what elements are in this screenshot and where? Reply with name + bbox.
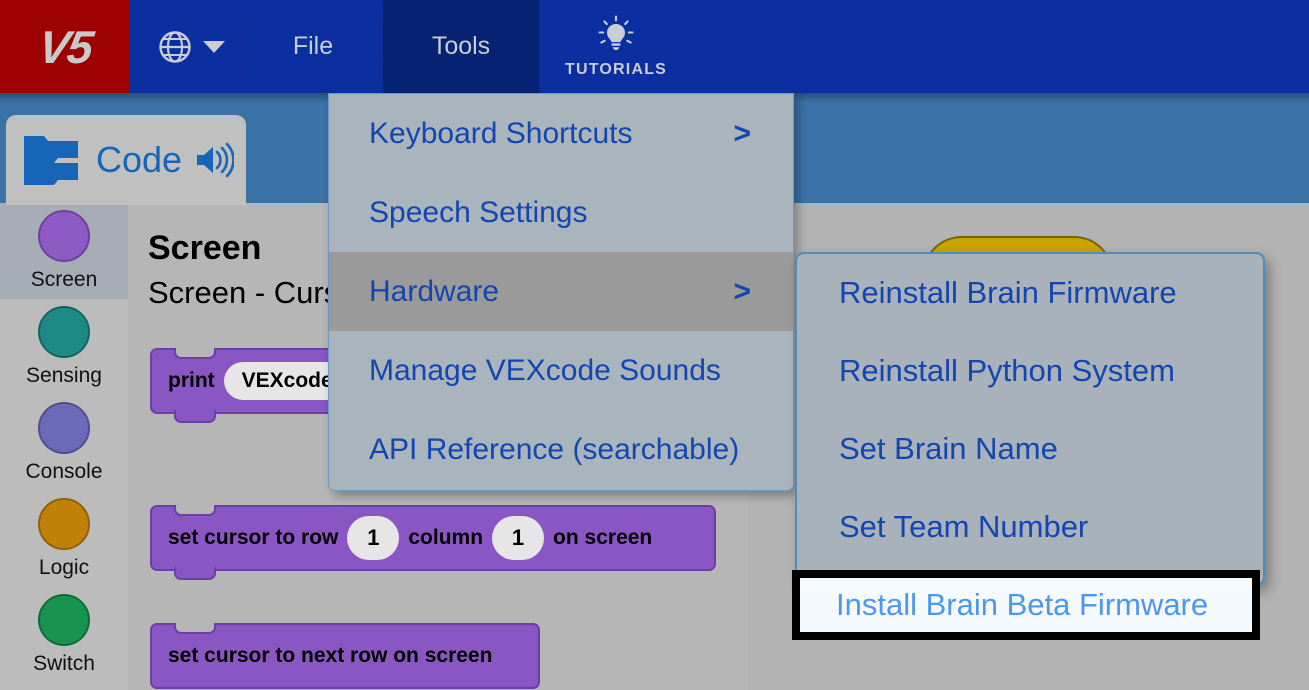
column-value-field[interactable]: 1 — [492, 516, 544, 560]
chevron-down-icon — [203, 41, 225, 53]
sidebar-item-label: Screen — [31, 268, 98, 292]
v5-logo-text: V5 — [35, 20, 95, 74]
menu-file-label: File — [293, 32, 333, 61]
language-selector[interactable] — [130, 0, 243, 93]
speaker-icon[interactable] — [194, 142, 234, 178]
category-dot — [38, 306, 90, 358]
sidebar-item-label: Switch — [33, 652, 95, 676]
on-screen-label: on screen — [553, 526, 652, 550]
menu-item-manage-vexcode-sounds[interactable]: Manage VEXcode Sounds — [329, 331, 793, 410]
block-notch — [174, 567, 216, 580]
menu-tools[interactable]: Tools — [383, 0, 539, 93]
globe-icon — [158, 30, 192, 64]
lightbulb-icon — [595, 15, 637, 57]
submenu-item-label: Set Brain Name — [839, 431, 1058, 467]
tutorials-label: TUTORIALS — [565, 61, 667, 79]
category-dot — [38, 210, 90, 262]
chevron-right-icon: > — [733, 117, 771, 151]
tools-dropdown-menu: Keyboard Shortcuts > Speech Settings Har… — [328, 93, 794, 491]
sidebar-item-label: Console — [25, 460, 102, 484]
menu-item-label: Hardware — [369, 275, 499, 309]
sidebar-item-switch[interactable]: Switch — [0, 587, 128, 683]
submenu-item-set-brain-name[interactable]: Set Brain Name — [797, 410, 1263, 488]
menu-item-api-reference[interactable]: API Reference (searchable) — [329, 410, 793, 489]
code-tab[interactable]: Code — [6, 115, 246, 205]
next-row-label: set cursor to next row on screen — [168, 644, 492, 668]
block-notch — [174, 348, 216, 359]
column-label: column — [408, 526, 483, 550]
submenu-item-label: Reinstall Brain Firmware — [839, 275, 1177, 311]
submenu-item-install-brain-beta-firmware[interactable]: Install Brain Beta Firmware — [792, 570, 1260, 640]
submenu-item-reinstall-python-system[interactable]: Reinstall Python System — [797, 332, 1263, 410]
tutorials-button[interactable]: TUTORIALS — [539, 0, 693, 93]
block-notch — [174, 623, 216, 634]
submenu-item-label: Set Team Number — [839, 509, 1088, 545]
sidebar-item-logic[interactable]: Logic — [0, 491, 128, 587]
sidebar-item-sensing[interactable]: Sensing — [0, 299, 128, 395]
menu-item-hardware[interactable]: Hardware > — [329, 252, 793, 331]
set-cursor-row-column-block[interactable]: set cursor to row 1 column 1 on screen — [150, 505, 716, 571]
submenu-item-label: Reinstall Python System — [839, 353, 1175, 389]
block-notch — [174, 505, 216, 516]
highlight-box[interactable]: Install Brain Beta Firmware — [800, 578, 1252, 632]
submenu-item-set-team-number[interactable]: Set Team Number — [797, 488, 1263, 566]
submenu-item-reinstall-brain-firmware[interactable]: Reinstall Brain Firmware — [797, 254, 1263, 332]
set-cursor-next-row-block[interactable]: set cursor to next row on screen — [150, 623, 540, 689]
block-notch — [174, 410, 216, 423]
sidebar-item-label: Logic — [39, 556, 89, 580]
sidebar-item-label: Sensing — [26, 364, 102, 388]
sidebar-item-console[interactable]: Console — [0, 395, 128, 491]
row-label: set cursor to row — [168, 526, 338, 550]
category-dot — [38, 594, 90, 646]
sidebar-item-screen[interactable]: Screen — [0, 203, 128, 299]
code-tab-label: Code — [96, 139, 182, 181]
hardware-submenu: Reinstall Brain Firmware Reinstall Pytho… — [795, 252, 1265, 586]
category-sidebar: Screen Sensing Console Logic Switch — [0, 203, 128, 690]
submenu-item-label: Install Brain Beta Firmware — [836, 587, 1208, 623]
category-dot — [38, 498, 90, 550]
flyout-title: Screen — [148, 229, 261, 268]
menu-item-label: Keyboard Shortcuts — [369, 117, 632, 151]
menu-item-label: Speech Settings — [369, 196, 587, 230]
category-dot — [38, 402, 90, 454]
print-block-prefix: print — [168, 369, 215, 393]
row-value-field[interactable]: 1 — [347, 516, 399, 560]
menu-tools-label: Tools — [432, 32, 490, 61]
blocks-icon — [22, 134, 84, 186]
menu-file[interactable]: File — [243, 0, 383, 93]
menu-item-keyboard-shortcuts[interactable]: Keyboard Shortcuts > — [329, 94, 793, 173]
menu-item-label: Manage VEXcode Sounds — [369, 354, 721, 388]
menu-item-speech-settings[interactable]: Speech Settings — [329, 173, 793, 252]
top-navigation-bar: V5 File Tools — [0, 0, 1309, 93]
menu-item-label: API Reference (searchable) — [369, 433, 739, 467]
chevron-right-icon: > — [733, 275, 771, 309]
v5-logo: V5 — [0, 0, 130, 93]
